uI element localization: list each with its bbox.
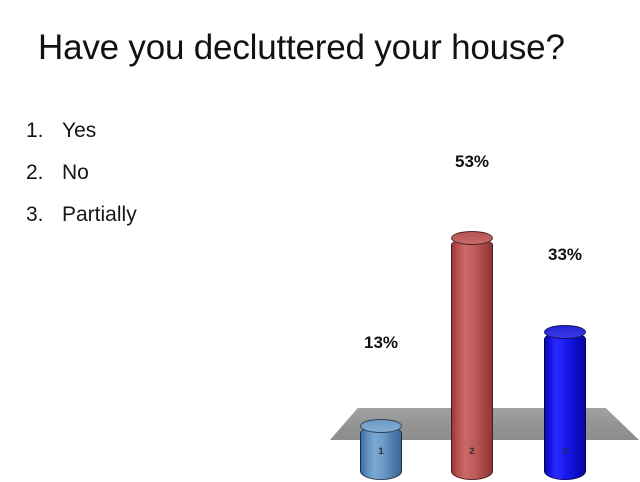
poll-results-chart: 13% 53% 33% 1 2 3	[318, 140, 640, 480]
chart-category-label-2: 2	[442, 446, 502, 456]
list-item-number: 3.	[26, 194, 62, 236]
list-item-number: 1.	[26, 110, 62, 152]
chart-bar-3	[544, 325, 586, 480]
list-item: 2. No	[26, 152, 296, 194]
chart-plot-area: 13% 53% 33% 1 2 3	[318, 140, 640, 480]
chart-category-label-1: 1	[351, 446, 411, 456]
chart-bar-2-value-label: 53%	[432, 152, 512, 172]
chart-bar-3-value-label: 33%	[525, 245, 605, 265]
chart-bar-2-body	[451, 238, 493, 480]
list-item: 1. Yes	[26, 110, 296, 152]
list-item-label: Partially	[62, 194, 296, 236]
chart-bar-1-top-cap	[360, 419, 402, 433]
chart-bar-3-body	[544, 332, 586, 480]
chart-bar-2-top-cap	[451, 231, 493, 245]
list-item-number: 2.	[26, 152, 62, 194]
list-item-label: No	[62, 152, 296, 194]
list-item-label: Yes	[62, 110, 296, 152]
chart-bar-3-top-cap	[544, 325, 586, 339]
chart-bar-1-value-label: 13%	[341, 333, 421, 353]
chart-category-label-3: 3	[535, 446, 595, 456]
list-item: 3. Partially	[26, 194, 296, 236]
answer-list: 1. Yes 2. No 3. Partially	[26, 110, 296, 236]
page-title: Have you decluttered your house?	[38, 28, 618, 68]
chart-bar-2	[451, 231, 493, 480]
